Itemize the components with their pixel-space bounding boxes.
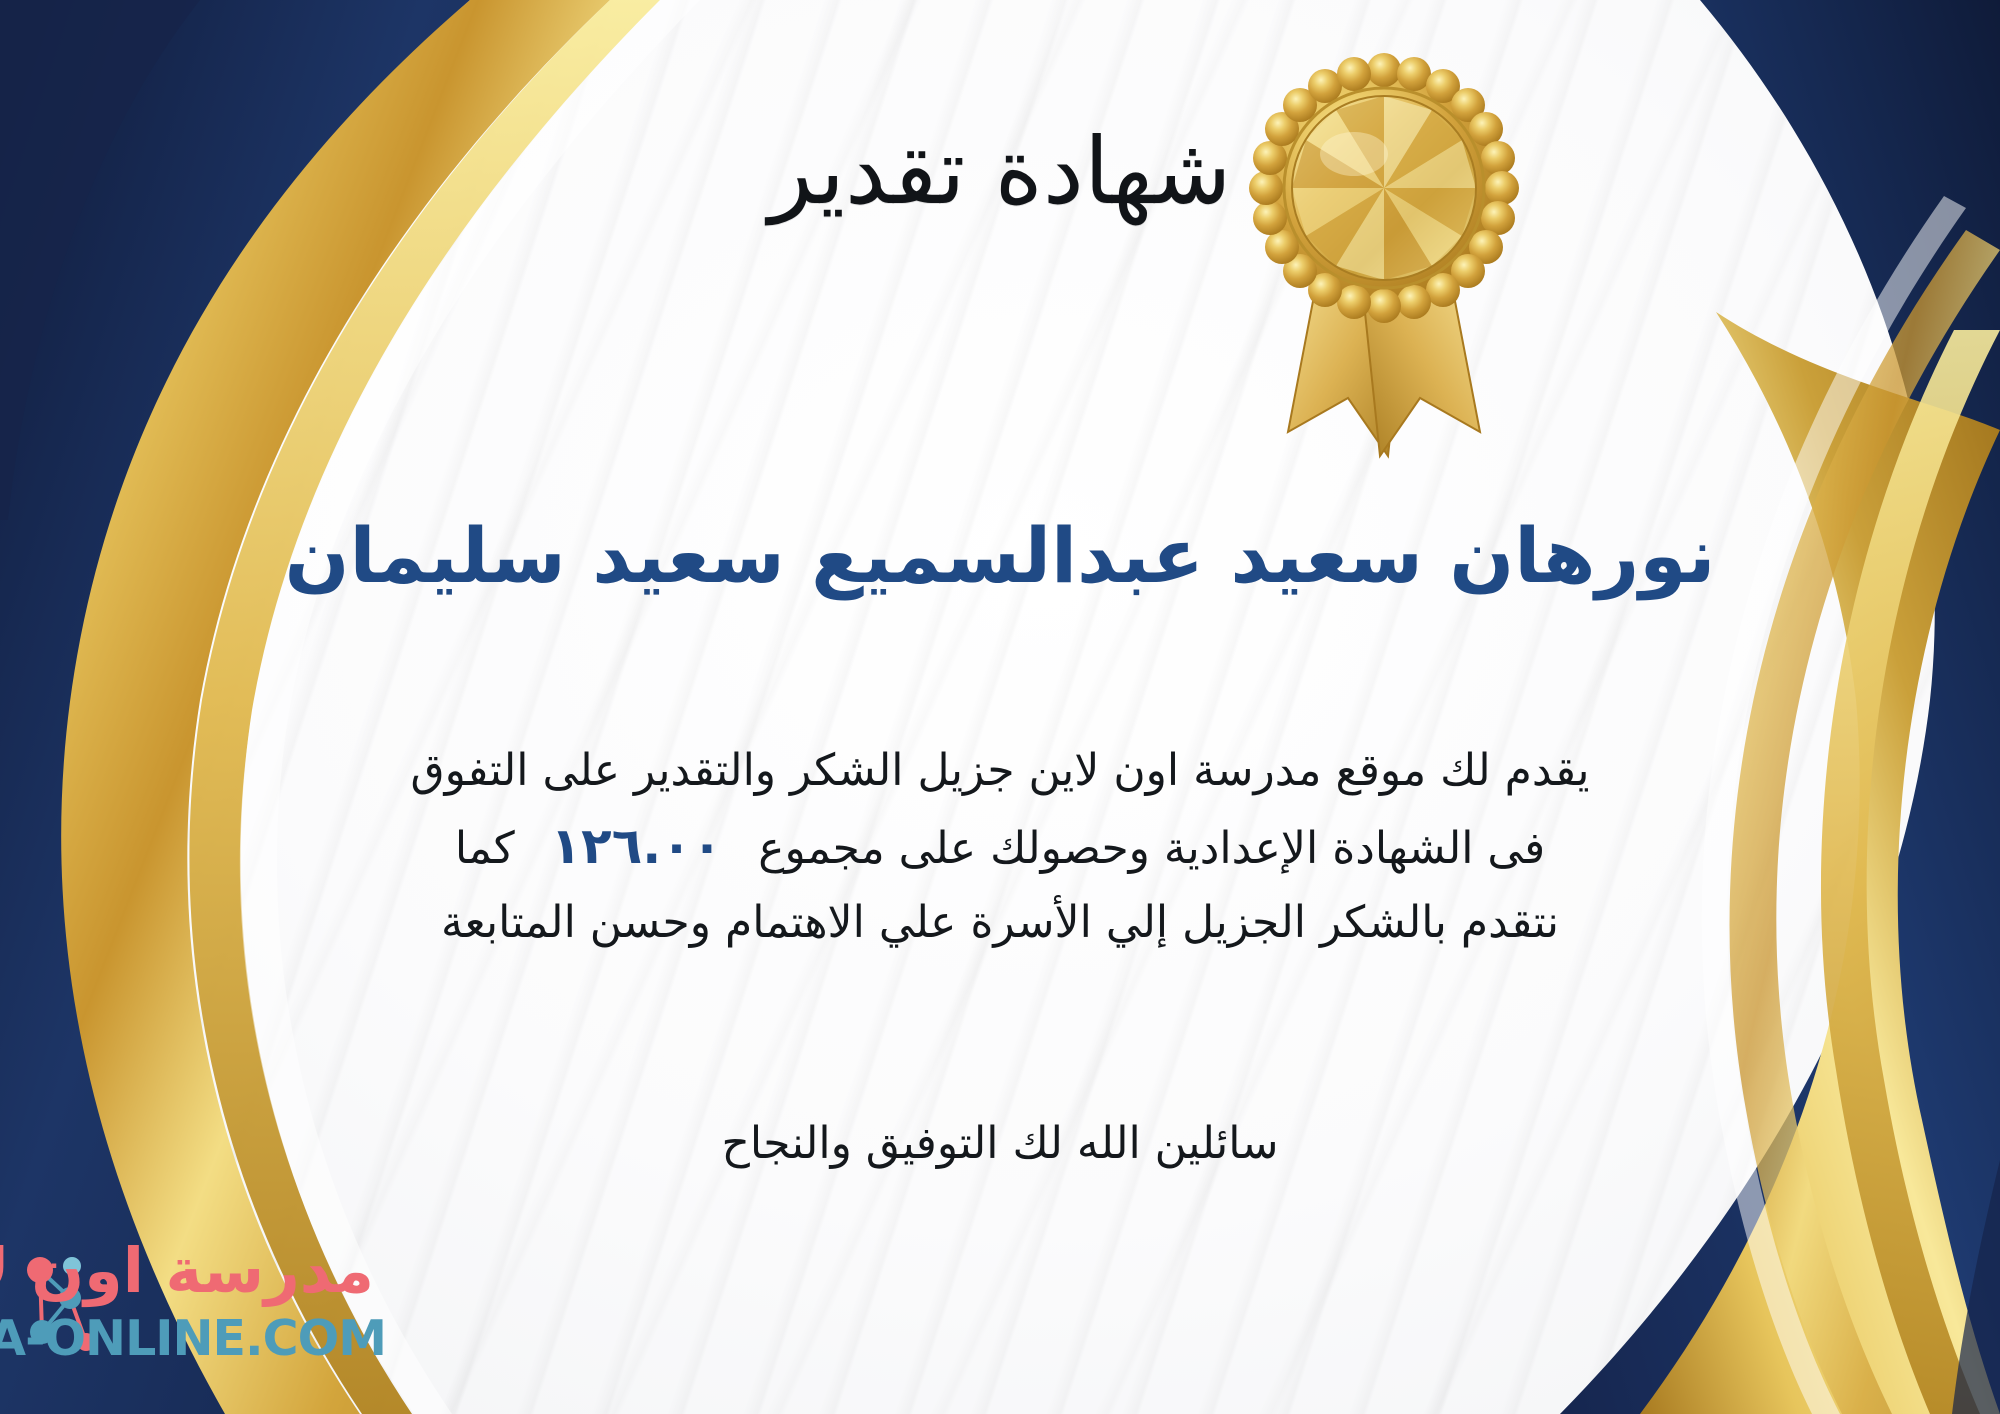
- certificate-title: شهادة تقدير: [0, 118, 2000, 227]
- certificate-body: يقدم لك موقع مدرسة اون لاين جزيل الشكر و…: [180, 735, 1820, 959]
- brand-domain: MADRSA-ONLINE.COM: [0, 1310, 386, 1367]
- body-line-2-prefix: فى الشهادة الإعدادية وحصولك على مجموع: [758, 823, 1545, 874]
- student-name: نورهان سعيد عبدالسميع سعيد سليمان: [60, 508, 1940, 603]
- body-line-1: يقدم لك موقع مدرسة اون لاين جزيل الشكر و…: [180, 735, 1820, 806]
- certificate-content: شهادة تقدير نورهان سعيد عبدالسميع سعيد س…: [0, 0, 2000, 1414]
- body-line-2: فى الشهادة الإعدادية وحصولك على مجموع١٢٦…: [180, 806, 1820, 887]
- closing-wish: سائلين الله لك التوفيق والنجاح: [0, 1118, 2000, 1169]
- grade-value: ١٢٦.٠٠: [515, 817, 759, 875]
- body-line-2-suffix: كما: [455, 823, 515, 874]
- certificate-canvas: شهادة تقدير نورهان سعيد عبدالسميع سعيد س…: [0, 0, 2000, 1414]
- brand-name-arabic: مدرسة اون لاين: [0, 1238, 374, 1303]
- brand-logo[interactable]: مدرسة اون لاين MADRSA-ONLINE.COM: [22, 1238, 452, 1388]
- body-line-3: نتقدم بالشكر الجزيل إلي الأسرة علي الاهت…: [180, 887, 1820, 958]
